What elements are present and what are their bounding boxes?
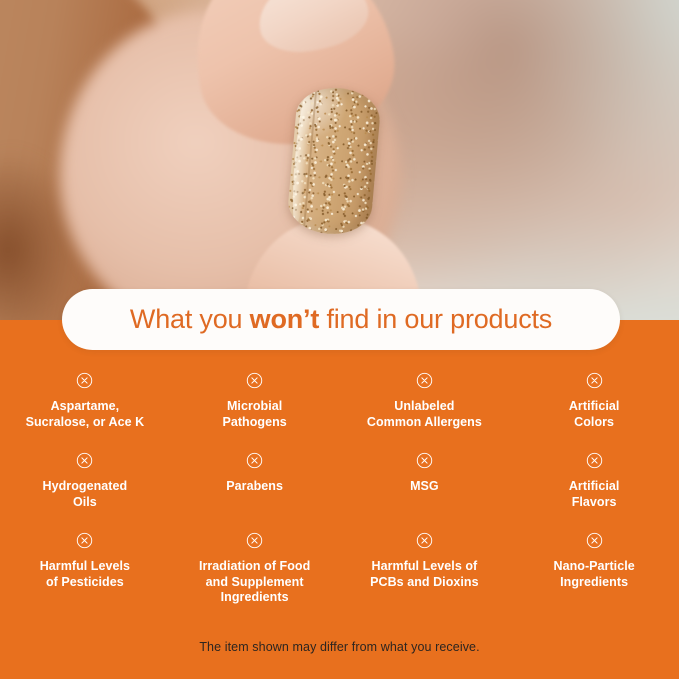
exclusion-label: Harmful Levelsof Pesticides xyxy=(40,559,130,590)
circle-x-icon xyxy=(416,372,433,389)
exclusion-item: HydrogenatedOils xyxy=(0,452,170,532)
headline-suffix: find in our products xyxy=(319,304,552,334)
circle-x-icon xyxy=(76,372,93,389)
exclusion-item: ArtificialColors xyxy=(509,372,679,452)
exclusion-item: Aspartame,Sucralose, or Ace K xyxy=(0,372,170,452)
exclusions-panel: Aspartame,Sucralose, or Ace K MicrobialP… xyxy=(0,320,679,679)
circle-x-icon xyxy=(76,532,93,549)
headline-emphasis: won’t xyxy=(250,304,319,334)
exclusion-item: Harmful Levels ofPCBs and Dioxins xyxy=(340,532,510,618)
circle-x-icon xyxy=(246,532,263,549)
circle-x-icon xyxy=(76,452,93,469)
exclusion-item: Parabens xyxy=(170,452,340,532)
exclusions-grid: Aspartame,Sucralose, or Ace K MicrobialP… xyxy=(0,372,679,618)
disclaimer-text: The item shown may differ from what you … xyxy=(0,640,679,654)
circle-x-icon xyxy=(416,532,433,549)
exclusion-item: MicrobialPathogens xyxy=(170,372,340,452)
circle-x-icon xyxy=(246,452,263,469)
exclusion-label: ArtificialColors xyxy=(569,399,620,430)
exclusion-label: Aspartame,Sucralose, or Ace K xyxy=(26,399,145,430)
circle-x-icon xyxy=(586,452,603,469)
exclusion-label: Harmful Levels ofPCBs and Dioxins xyxy=(370,559,478,590)
circle-x-icon xyxy=(416,452,433,469)
exclusion-label: Nano-ParticleIngredients xyxy=(554,559,635,590)
exclusion-item: UnlabeledCommon Allergens xyxy=(340,372,510,452)
exclusion-item: Irradiation of Foodand SupplementIngredi… xyxy=(170,532,340,618)
circle-x-icon xyxy=(586,532,603,549)
exclusion-item: MSG xyxy=(340,452,510,532)
circle-x-icon xyxy=(586,372,603,389)
headline-prefix: What you xyxy=(130,304,250,334)
exclusion-label: ArtificialFlavors xyxy=(569,479,620,510)
exclusion-label: MicrobialPathogens xyxy=(222,399,286,430)
exclusion-label: Parabens xyxy=(226,479,283,495)
product-infographic: Aspartame,Sucralose, or Ace K MicrobialP… xyxy=(0,0,679,679)
headline-card: What you won’t find in our products xyxy=(62,289,620,350)
exclusion-label: MSG xyxy=(410,479,439,495)
exclusion-label: HydrogenatedOils xyxy=(43,479,128,510)
exclusion-item: ArtificialFlavors xyxy=(509,452,679,532)
exclusion-label: Irradiation of Foodand SupplementIngredi… xyxy=(199,559,310,606)
supplement-tablet xyxy=(286,85,382,238)
product-photo xyxy=(0,0,679,322)
exclusion-item: Harmful Levelsof Pesticides xyxy=(0,532,170,618)
exclusion-item: Nano-ParticleIngredients xyxy=(509,532,679,618)
exclusion-label: UnlabeledCommon Allergens xyxy=(367,399,482,430)
page-title: What you won’t find in our products xyxy=(130,304,552,335)
circle-x-icon xyxy=(246,372,263,389)
